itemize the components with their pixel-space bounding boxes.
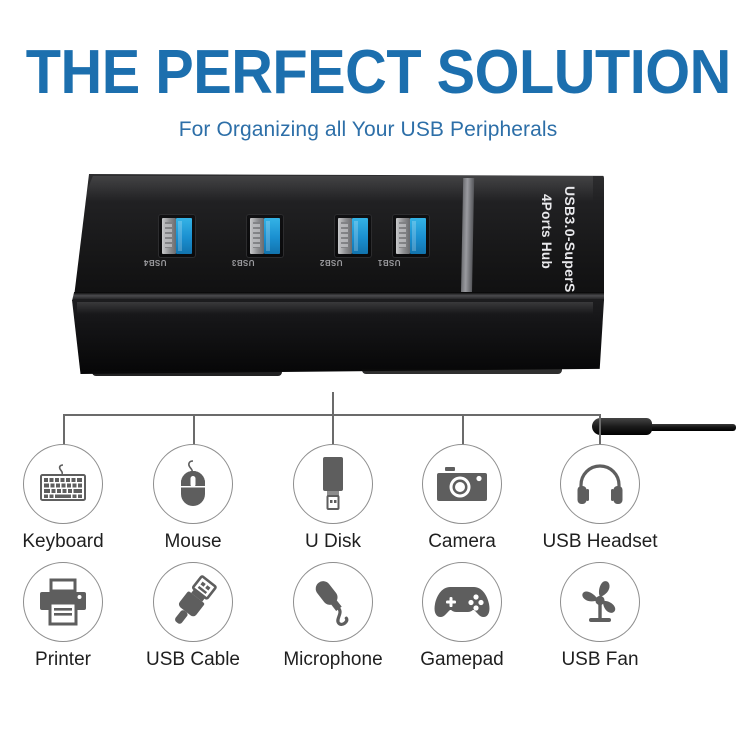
usb-port-label: USB2 (314, 258, 348, 267)
usb-port-2: USB2 (334, 214, 372, 258)
peripheral-mouse[interactable]: Mouse (128, 444, 258, 553)
peripheral-label: Camera (397, 531, 527, 553)
peripheral-label: USB Fan (535, 649, 665, 671)
peripheral-usb-headset[interactable]: USB Headset (535, 444, 665, 553)
page-subtitle: For Organizing all Your USB Peripherals (0, 117, 736, 143)
connector-drop-4 (462, 414, 464, 446)
port-metal-contact (338, 218, 352, 254)
hub-front-edge-highlight (72, 292, 604, 301)
printer-icon (23, 562, 103, 642)
product-image: USB4 USB3 USB2 USB1 (0, 160, 736, 390)
peripheral-label: U Disk (268, 531, 398, 553)
usb-cable-icon (153, 562, 233, 642)
peripheral-label: Keyboard (0, 531, 128, 553)
usb-flash-drive-icon (293, 444, 373, 524)
peripheral-label: Mouse (128, 531, 258, 553)
peripheral-label: Microphone (268, 649, 398, 671)
product-branding: USB3.0-SuperSpeed 4Ports Hub (502, 180, 620, 298)
port-blue-insert (410, 218, 426, 254)
peripheral-camera[interactable]: Camera (397, 444, 527, 553)
port-metal-contact (396, 218, 410, 254)
keyboard-icon (23, 444, 103, 524)
port-blue-insert (264, 218, 280, 254)
peripheral-label: USB Cable (128, 649, 258, 671)
connector-diagram (0, 392, 736, 452)
peripheral-u-disk[interactable]: U Disk (268, 444, 398, 553)
peripheral-microphone[interactable]: Microphone (268, 562, 398, 671)
usb-port-3: USB3 (246, 214, 284, 258)
usb-hub-body: USB4 USB3 USB2 USB1 (72, 174, 604, 374)
headset-icon (560, 444, 640, 524)
connector-drop-1 (63, 414, 65, 446)
peripheral-gamepad[interactable]: Gamepad (397, 562, 527, 671)
peripheral-usb-fan[interactable]: USB Fan (535, 562, 665, 671)
peripheral-label: Printer (0, 649, 128, 671)
peripheral-label: Gamepad (397, 649, 527, 671)
peripheral-usb-cable[interactable]: USB Cable (128, 562, 258, 671)
usb-port-label: USB1 (372, 258, 406, 267)
port-metal-contact (250, 218, 264, 254)
peripheral-label: USB Headset (535, 531, 665, 553)
usb-port-4: USB4 (158, 214, 196, 258)
connector-drop-2 (193, 414, 195, 446)
connector-drop-3 (332, 414, 334, 446)
port-blue-insert (352, 218, 368, 254)
connector-center-stem (332, 392, 334, 415)
usb-port-label: USB3 (226, 258, 260, 267)
mouse-icon (153, 444, 233, 524)
peripheral-printer[interactable]: Printer (0, 562, 128, 671)
port-blue-insert (176, 218, 192, 254)
hub-front-gloss (77, 302, 593, 314)
brand-line-ports: 4Ports Hub (539, 194, 554, 269)
hub-foot-right (362, 369, 562, 374)
fan-icon (560, 562, 640, 642)
usb-port-1: USB1 (392, 214, 430, 258)
usb-port-label: USB4 (138, 258, 172, 267)
camera-icon (422, 444, 502, 524)
gamepad-icon (422, 562, 502, 642)
peripheral-keyboard[interactable]: Keyboard (0, 444, 128, 553)
page-title: THE PERFECT SOLUTION (26, 42, 710, 104)
hub-foot-left (92, 371, 282, 376)
infographic-page: THE PERFECT SOLUTION For Organizing all … (0, 0, 736, 736)
connector-drop-5 (599, 414, 601, 446)
microphone-icon (293, 562, 373, 642)
port-metal-contact (162, 218, 176, 254)
